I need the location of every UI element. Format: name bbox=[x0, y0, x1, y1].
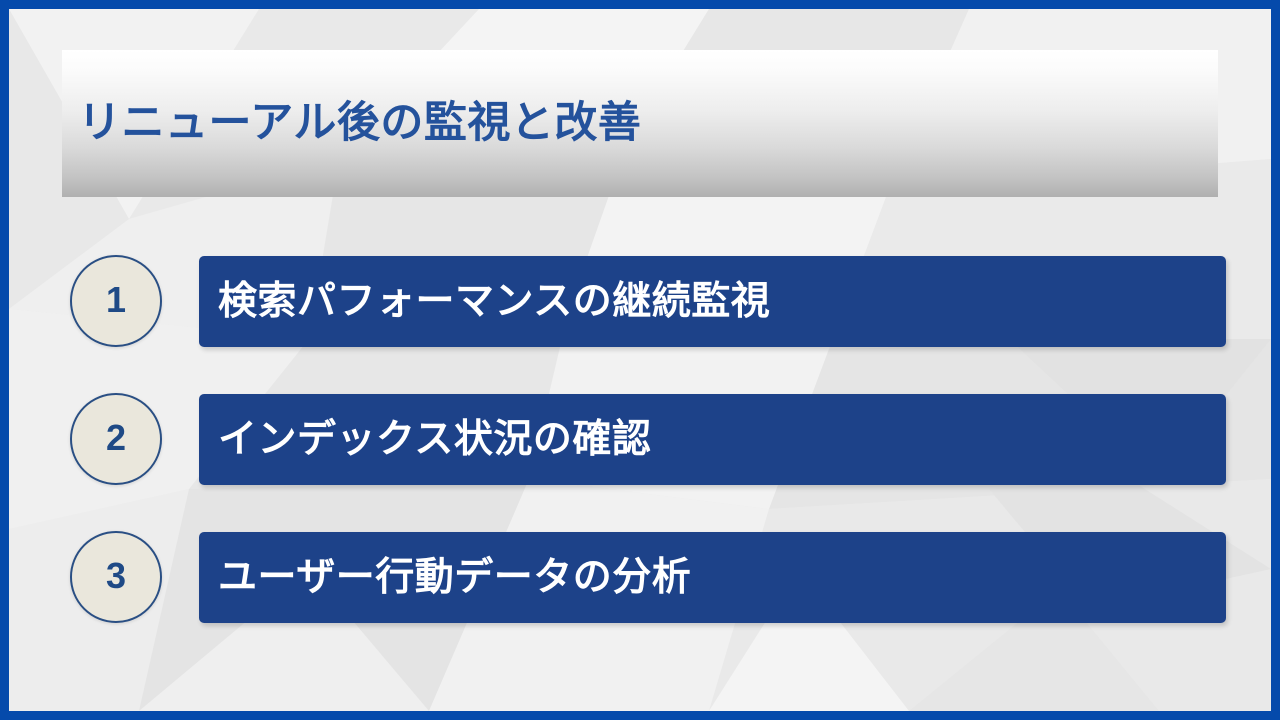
list-item-label: 検索パフォーマンスの継続監視 bbox=[199, 282, 770, 321]
list-item-number: 3 bbox=[106, 558, 126, 594]
list-item-label: ユーザー行動データの分析 bbox=[199, 558, 691, 597]
page-title: リニューアル後の監視と改善 bbox=[78, 102, 641, 145]
list-item[interactable]: 2 インデックス状況の確認 bbox=[62, 393, 1218, 485]
slide-canvas: リニューアル後の監視と改善 1 検索パフォーマンスの継続監視 2 インデックス状… bbox=[0, 0, 1280, 720]
list-item[interactable]: 3 ユーザー行動データの分析 bbox=[62, 531, 1218, 623]
list-item-bar[interactable]: インデックス状況の確認 bbox=[199, 394, 1226, 485]
slide-title-bar: リニューアル後の監視と改善 bbox=[62, 50, 1218, 197]
list-item-bar[interactable]: ユーザー行動データの分析 bbox=[199, 532, 1226, 623]
list-item-number-badge: 3 bbox=[70, 531, 162, 623]
list-item-number-badge: 2 bbox=[70, 393, 162, 485]
list-item[interactable]: 1 検索パフォーマンスの継続監視 bbox=[62, 255, 1218, 347]
list-item-number-badge: 1 bbox=[70, 255, 162, 347]
list-item-number: 2 bbox=[106, 420, 126, 456]
list-item-bar[interactable]: 検索パフォーマンスの継続監視 bbox=[199, 256, 1226, 347]
list-item-label: インデックス状況の確認 bbox=[199, 420, 651, 459]
list-item-number: 1 bbox=[106, 282, 126, 318]
